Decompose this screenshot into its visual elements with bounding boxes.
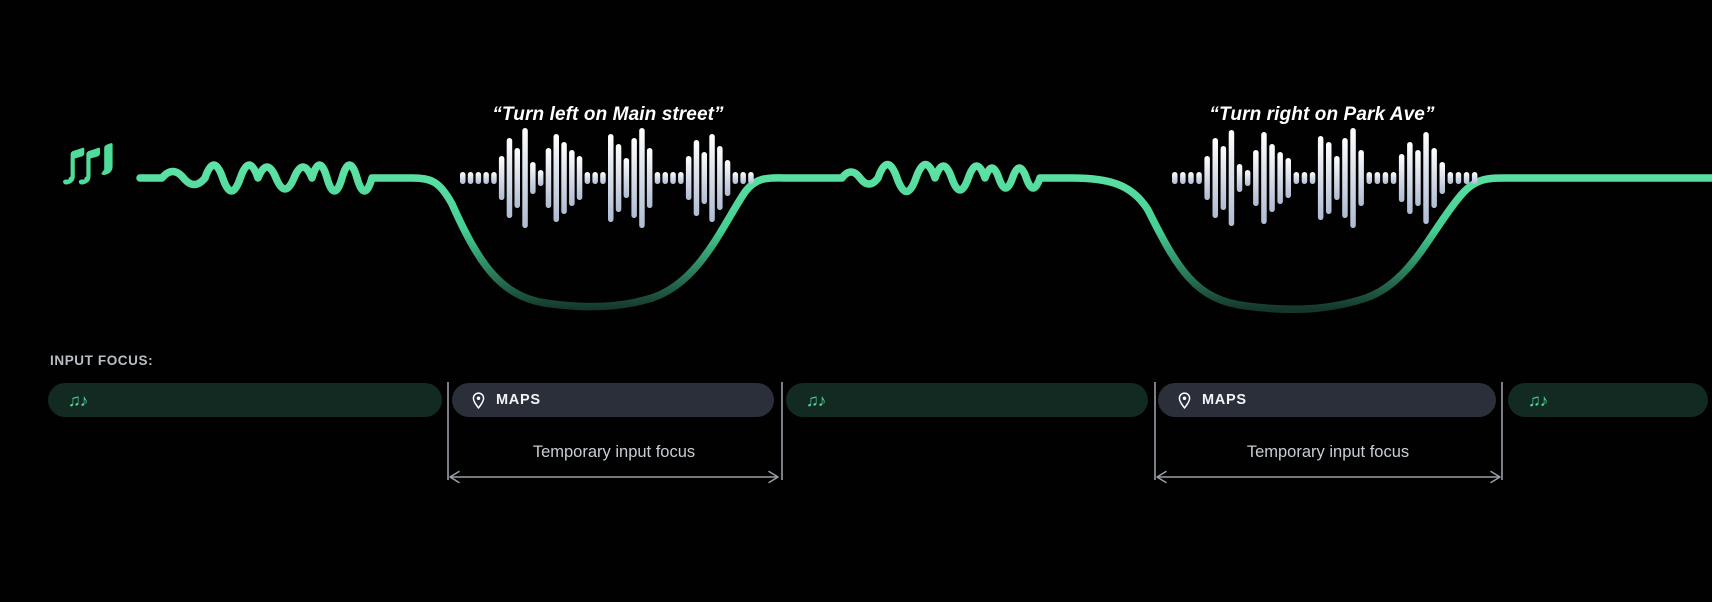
- waveform-bar: [1350, 128, 1356, 228]
- temporary-focus-span-arrow: [448, 470, 780, 484]
- waveform-bar: [655, 172, 661, 184]
- waveform-bar: [1180, 172, 1186, 184]
- waveform-bar: [1310, 172, 1316, 184]
- focus-segment-app-maps[interactable]: MAPS: [1158, 383, 1496, 417]
- notes-icon: ♫♪: [806, 392, 825, 409]
- waveform-bar: [1237, 164, 1243, 192]
- waveform-bar: [1440, 162, 1446, 194]
- waveform-bar: [1415, 150, 1421, 206]
- transcript-bars-group-2: [1172, 128, 1477, 228]
- waveform-bar: [499, 156, 505, 200]
- speech-wave-path: [140, 165, 1712, 310]
- waveform-bar: [1261, 132, 1267, 224]
- waveform-bar: [1188, 172, 1194, 184]
- waveform-bar: [1431, 148, 1437, 208]
- waveform-bar: [1383, 172, 1389, 184]
- waveform-bar: [709, 134, 715, 222]
- waveform-bar: [1326, 142, 1332, 214]
- temporary-focus-span-arrow: [1155, 470, 1502, 484]
- waveform-bar: [546, 148, 552, 208]
- waveform-bar: [522, 128, 528, 228]
- waveform-bar: [1456, 172, 1462, 184]
- waveform-bar: [678, 172, 684, 184]
- waveform-bar: [476, 172, 482, 184]
- waveform-bar: [694, 140, 700, 216]
- waveform-bar: [1294, 172, 1300, 184]
- waveform-bar: [1245, 170, 1251, 186]
- input-focus-heading: INPUT FOCUS:: [50, 353, 153, 368]
- waveform-bar: [569, 150, 575, 206]
- waveform-bar: [491, 172, 497, 184]
- waveform-bar: [577, 156, 583, 200]
- waveform-bar: [1172, 172, 1178, 184]
- waveform-bar: [530, 162, 536, 194]
- waveform-bar: [1367, 172, 1373, 184]
- temporary-focus-label: Temporary input focus: [1247, 443, 1409, 462]
- waveform-bar: [1375, 172, 1381, 184]
- waveform-bar: [1213, 138, 1219, 218]
- waveform-bar: [460, 172, 466, 184]
- app-name-label: MAPS: [496, 392, 541, 408]
- segment-boundary-line: [1154, 382, 1156, 480]
- waveform-bar: [670, 172, 676, 184]
- waveform-bar: [663, 172, 669, 184]
- waveform-bar: [592, 172, 598, 184]
- map-pin-icon: [470, 392, 487, 409]
- waveform-bar: [1472, 172, 1478, 184]
- waveform-bar: [1399, 154, 1405, 202]
- waveform-bar: [600, 172, 606, 184]
- waveform-bar: [616, 144, 622, 212]
- waveform-bar: [1464, 172, 1470, 184]
- focus-segment-audio[interactable]: ♫♪: [1508, 383, 1708, 417]
- waveform-bar: [702, 152, 708, 204]
- notes-icon: ♫♪: [1528, 392, 1547, 409]
- waveform-bar: [1358, 150, 1364, 206]
- waveform-bar: [624, 158, 630, 198]
- waveform-bar: [647, 148, 653, 208]
- focus-segment-app-maps[interactable]: MAPS: [452, 383, 774, 417]
- segment-boundary-line: [1501, 382, 1503, 480]
- waveform-bar: [717, 146, 723, 210]
- waveform-bar: [468, 172, 474, 184]
- waveform-bar: [1423, 132, 1429, 224]
- waveform-bar: [733, 172, 739, 184]
- waveform-bar: [561, 142, 567, 214]
- focus-segment-audio[interactable]: ♫♪: [48, 383, 442, 417]
- map-pin-icon: [1176, 392, 1193, 409]
- waveform-bar: [1196, 172, 1202, 184]
- waveform-bar: [686, 156, 692, 200]
- waveform-bar: [631, 138, 637, 218]
- waveform-bar: [1448, 172, 1454, 184]
- waveform-bar: [740, 172, 746, 184]
- segment-boundary-line: [781, 382, 783, 480]
- waveform-bar: [1302, 172, 1308, 184]
- transcript-bars-group-1: [460, 128, 754, 228]
- waveform-bar: [1229, 130, 1235, 226]
- focus-segment-audio[interactable]: ♫♪: [786, 383, 1148, 417]
- temporary-focus-label: Temporary input focus: [533, 443, 695, 462]
- waveform-bar: [1391, 172, 1397, 184]
- waveform-bar: [1221, 146, 1227, 210]
- waveform-bar: [538, 170, 544, 186]
- waveform-bar: [1277, 152, 1283, 204]
- waveform-bar: [515, 148, 521, 208]
- music-note-icon: [63, 143, 113, 184]
- waveform-bar: [1204, 156, 1210, 200]
- waveform-bar: [554, 134, 560, 222]
- waveform-bar: [585, 172, 591, 184]
- waveform-bar: [1334, 156, 1340, 200]
- waveform-bar: [1286, 158, 1292, 198]
- audio-waveform-graphic: [0, 0, 1712, 340]
- waveform-bar: [639, 128, 645, 228]
- waveform-bar: [748, 172, 754, 184]
- waveform-bar: [1269, 144, 1275, 212]
- app-name-label: MAPS: [1202, 392, 1247, 408]
- map-pin-icon-wrap: [470, 392, 487, 409]
- waveform-bar: [483, 172, 489, 184]
- segment-boundary-line: [447, 382, 449, 480]
- waveform-bar: [507, 138, 513, 218]
- waveform-bar: [608, 134, 614, 222]
- waveform-bar: [1253, 150, 1259, 206]
- notes-icon: ♫♪: [68, 392, 87, 409]
- waveform-bar: [1407, 142, 1413, 214]
- waveform-bar: [1342, 138, 1348, 218]
- map-pin-icon-wrap: [1176, 392, 1193, 409]
- waveform-timeline-canvas: “Turn left on Main street” “Turn right o…: [0, 0, 1712, 602]
- waveform-bar: [1318, 136, 1324, 220]
- waveform-bar: [725, 160, 731, 196]
